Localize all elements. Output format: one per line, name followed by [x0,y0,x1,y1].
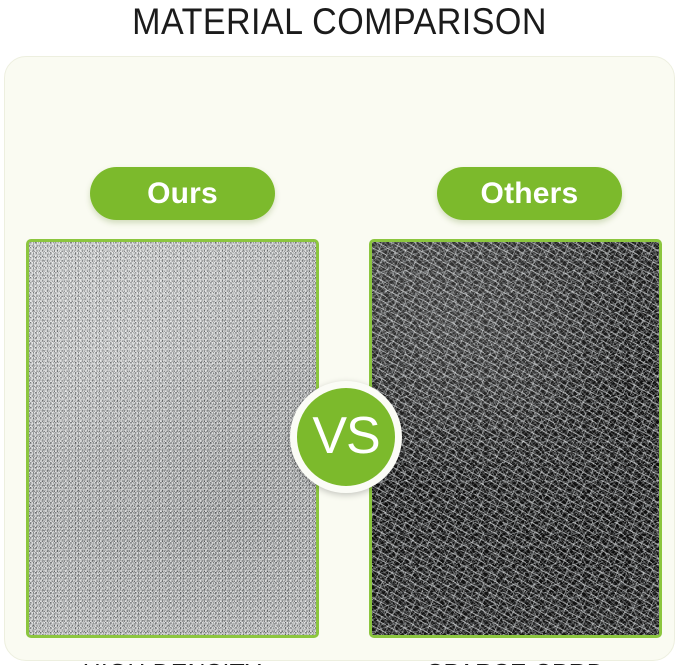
caption-sparse-cprd: SPARSE CPRD [369,657,662,665]
sparse-cprd-swatch [369,239,662,638]
pill-label-others: Others [481,177,579,211]
pill-label-ours: Ours [147,177,218,211]
high-density-felt-swatch [26,239,319,638]
pill-badge-ours: Ours [90,167,275,220]
pill-badge-others: Others [437,167,622,220]
comparison-card: Ours Others VS HIGH DENSITY SPARSE CPRD [4,56,675,661]
vs-badge-icon: VS [290,381,402,493]
felt-texture-icon [29,242,316,635]
caption-high-density-text: HIGH DENSITY [83,658,262,665]
page-title: MATERIAL COMPARISON [27,1,652,43]
caption-high-density: HIGH DENSITY [26,657,319,665]
comparison-infographic: MATERIAL COMPARISON Ours Others VS HIGH … [0,0,679,665]
scrub-texture-icon [372,242,659,635]
vs-badge-label: VS [312,410,379,462]
caption-sparse-cprd-text: SPARSE CPRD [426,658,604,665]
